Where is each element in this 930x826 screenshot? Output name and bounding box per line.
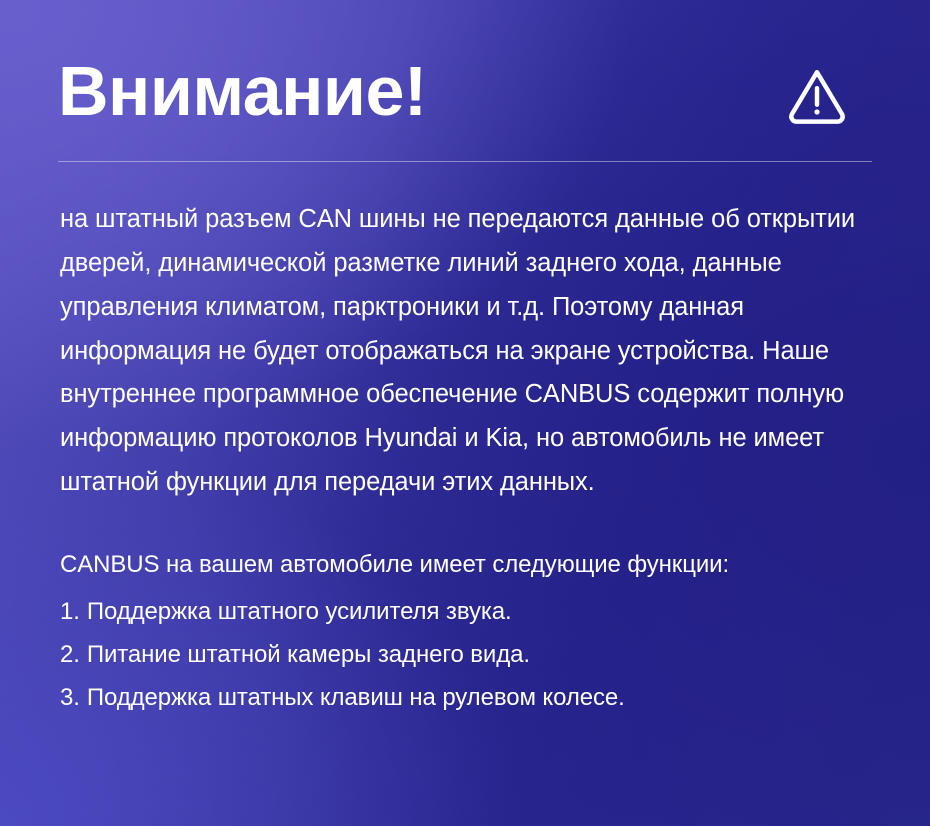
- features-intro: CANBUS на вашем автомобиле имеет следующ…: [60, 545, 888, 585]
- list-item: 2. Питание штатной камеры заднего вида.: [60, 634, 888, 677]
- feature-list: 1. Поддержка штатного усилителя звука. 2…: [60, 591, 888, 719]
- page-title: Внимание!: [58, 56, 427, 126]
- list-item-label: Поддержка штатного усилителя звука.: [87, 591, 512, 634]
- list-item: 3. Поддержка штатных клавиш на рулевом к…: [60, 677, 888, 720]
- list-item: 1. Поддержка штатного усилителя звука.: [60, 591, 888, 634]
- banner-header: Внимание!: [0, 0, 930, 126]
- list-item-number: 2.: [60, 634, 80, 677]
- header-divider: [58, 161, 872, 162]
- list-item-label: Питание штатной камеры заднего вида.: [87, 634, 530, 677]
- list-item-label: Поддержка штатных клавиш на рулевом коле…: [87, 677, 625, 720]
- attention-banner: Внимание! на штатный разъем CAN шины не …: [0, 0, 930, 826]
- list-item-number: 1.: [60, 591, 80, 634]
- warning-triangle-icon: [786, 63, 848, 125]
- banner-body: на штатный разъем CAN шины не передаются…: [0, 198, 930, 719]
- features-section: CANBUS на вашем автомобиле имеет следующ…: [60, 545, 888, 719]
- list-item-number: 3.: [60, 677, 80, 720]
- warning-paragraph: на штатный разъем CAN шины не передаются…: [60, 198, 888, 505]
